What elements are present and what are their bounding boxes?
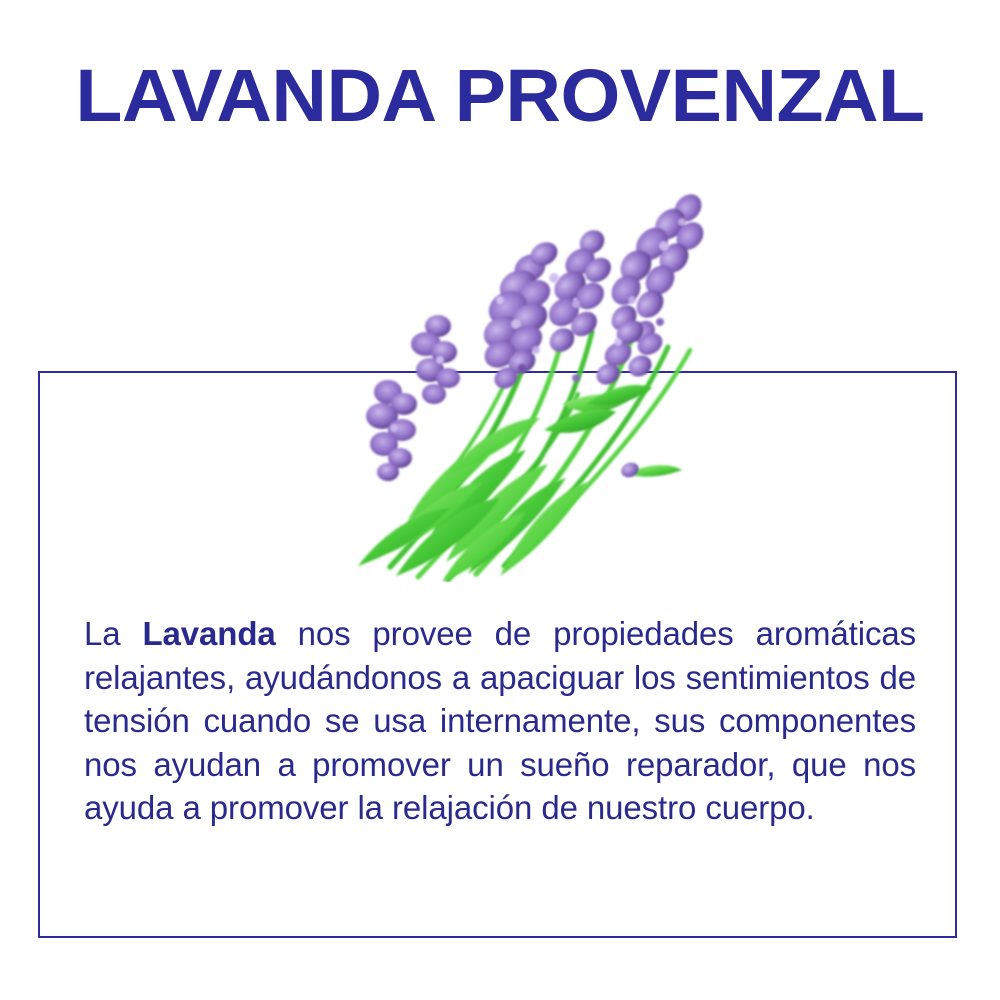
lavender-spike-2 <box>543 225 615 356</box>
lavender-spike-3 <box>606 189 709 348</box>
description-paragraph: La Lavanda nos provee de propiedades aro… <box>84 612 916 830</box>
lavender-info-card: LAVANDA PROVENZAL <box>0 0 1000 1000</box>
page-title: LAVANDA PROVENZAL <box>0 56 1000 136</box>
paragraph-prefix: La <box>84 615 142 652</box>
paragraph-bold-term: Lavanda <box>142 615 275 652</box>
lavender-spike-main <box>478 238 561 393</box>
